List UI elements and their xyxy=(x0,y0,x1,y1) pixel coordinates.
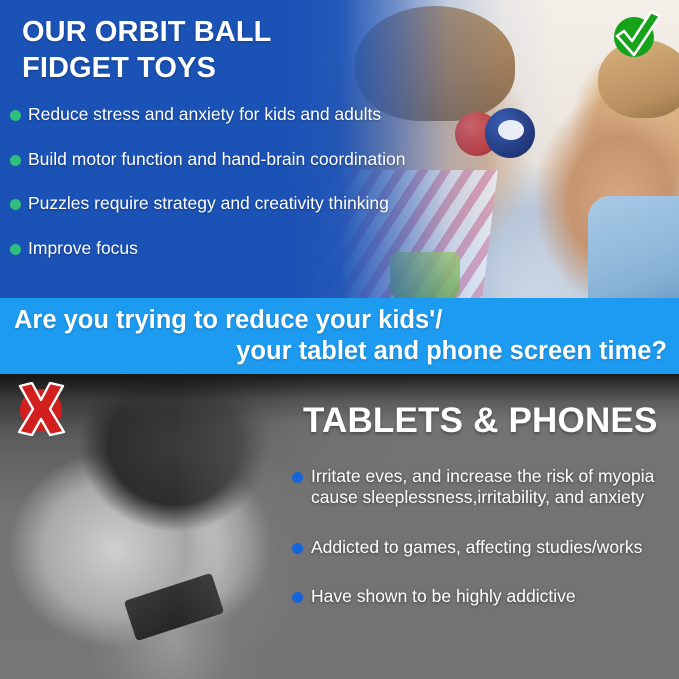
list-item: Irritate eves, and increase the risk of … xyxy=(292,466,672,509)
benefit-text: Build motor function and hand-brain coor… xyxy=(28,149,405,170)
list-item: Addicted to games, affecting studies/wor… xyxy=(292,537,672,558)
benefit-text: Puzzles require strategy and creativity … xyxy=(28,193,389,214)
product-infographic: OUR ORBIT BALL FIDGET TOYS Reduce stress… xyxy=(0,0,679,679)
benefit-text: Improve focus xyxy=(28,238,138,259)
list-item: Improve focus xyxy=(10,238,480,259)
top-benefits-panel: OUR ORBIT BALL FIDGET TOYS Reduce stress… xyxy=(0,0,679,298)
banner-line-2: your tablet and phone screen time? xyxy=(0,336,679,367)
bottom-drawbacks-list: Irritate eves, and increase the risk of … xyxy=(292,466,672,607)
green-check-badge-icon xyxy=(607,10,665,60)
bullet-dot-icon xyxy=(10,155,21,166)
bullet-dot-icon xyxy=(10,199,21,210)
list-item: Reduce stress and anxiety for kids and a… xyxy=(10,104,480,125)
banner-line-1: Are you trying to reduce your kids'/ xyxy=(0,305,679,336)
bullet-dot-icon xyxy=(10,244,21,255)
list-item: Build motor function and hand-brain coor… xyxy=(10,149,480,170)
drawback-text: Irritate eves, and increase the risk of … xyxy=(311,466,672,509)
bullet-dot-icon xyxy=(292,472,303,483)
question-banner: Are you trying to reduce your kids'/ you… xyxy=(0,298,679,374)
drawback-text: Have shown to be highly addictive xyxy=(311,586,576,607)
top-section-title: OUR ORBIT BALL FIDGET TOYS xyxy=(22,14,352,87)
drawback-text: Addicted to games, affecting studies/wor… xyxy=(311,537,642,558)
bullet-dot-icon xyxy=(10,110,21,121)
top-benefits-list: Reduce stress and anxiety for kids and a… xyxy=(10,104,480,259)
red-x-badge-icon xyxy=(12,382,70,436)
bullet-dot-icon xyxy=(292,592,303,603)
list-item: Puzzles require strategy and creativity … xyxy=(10,193,480,214)
bullet-dot-icon xyxy=(292,543,303,554)
bottom-section-title: TABLETS & PHONES xyxy=(303,401,658,441)
benefit-text: Reduce stress and anxiety for kids and a… xyxy=(28,104,381,125)
list-item: Have shown to be highly addictive xyxy=(292,586,672,607)
